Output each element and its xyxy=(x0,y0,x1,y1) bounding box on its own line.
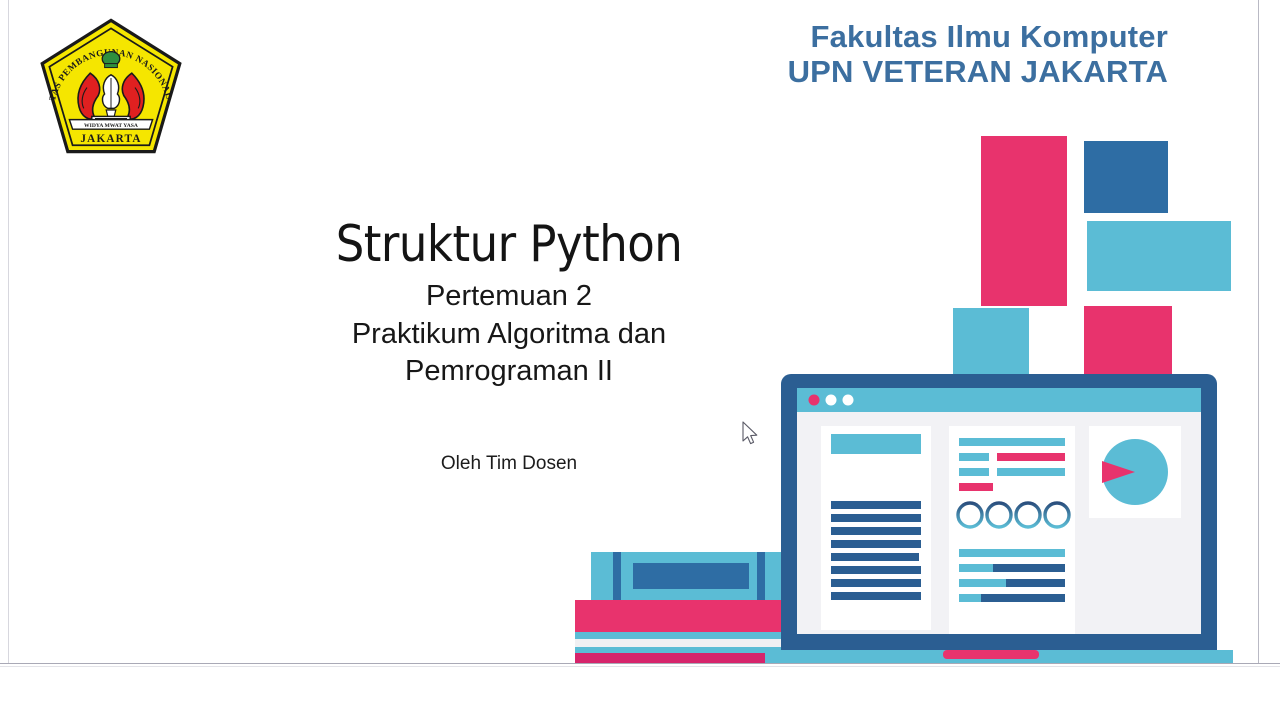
university-name-line2: UPN VETERAN JAKARTA xyxy=(788,55,1168,90)
logo-svg: UNIVERSITAS PEMBANGUNAN NASIONAL VETERAN xyxy=(31,14,191,174)
laptop-bottom-bezel xyxy=(781,634,1217,650)
block-darkblue xyxy=(1084,141,1168,213)
subtitle-line-1: Pertemuan 2 xyxy=(189,278,829,316)
doc-line xyxy=(831,527,921,535)
block-pink-square xyxy=(1084,306,1172,384)
faculty-name-line1: Fakultas Ilmu Komputer xyxy=(788,20,1168,55)
author-credit: Oleh Tim Dosen xyxy=(189,453,829,475)
logo-crest-base xyxy=(105,64,118,68)
book-divider-top xyxy=(575,632,803,639)
doc-line xyxy=(831,540,921,548)
card-document-header xyxy=(831,434,921,454)
upn-veteran-jakarta-logo: UNIVERSITAS PEMBANGUNAN NASIONAL VETERAN xyxy=(31,14,191,174)
stats-bar xyxy=(997,468,1065,476)
logo-bottom-text: JAKARTA xyxy=(80,133,141,145)
stats-bar xyxy=(959,453,989,461)
book-pink xyxy=(575,600,803,632)
book-spine-left xyxy=(613,552,621,600)
stats-bar-accent xyxy=(997,453,1065,461)
logo-ribbon-text: WIDYA MWAT YASA xyxy=(84,123,138,129)
slide-frame-bottom-edge xyxy=(0,663,1280,664)
slide-frame-right-edge xyxy=(1258,0,1259,664)
doc-line xyxy=(831,514,921,522)
block-lightblue-small xyxy=(953,308,1029,380)
stats-bar xyxy=(959,468,989,476)
slide-subtitle: Pertemuan 2 Praktikum Algoritma dan Pemr… xyxy=(189,278,829,391)
laptop-trackpad xyxy=(943,650,1039,659)
stats-bar xyxy=(959,438,1065,446)
block-lightblue-wide xyxy=(1087,221,1231,291)
book-label xyxy=(633,563,749,589)
faculty-header: Fakultas Ilmu Komputer UPN VETERAN JAKAR… xyxy=(788,20,1168,89)
subtitle-line-3: Pemrograman II xyxy=(189,353,829,391)
doc-line xyxy=(831,566,921,574)
block-pink-tall xyxy=(981,136,1067,306)
doc-line xyxy=(831,553,919,561)
progress-track xyxy=(959,549,1065,557)
doc-line xyxy=(831,501,921,509)
slide-frame-bottom-shadow xyxy=(0,666,1280,667)
page-title: Struktur Python xyxy=(189,216,829,272)
browser-titlebar xyxy=(797,388,1201,412)
book-spine-right xyxy=(757,552,765,600)
doc-line xyxy=(831,592,921,600)
logo-lotus-base xyxy=(106,110,116,116)
presentation-slide: UNIVERSITAS PEMBANGUNAN NASIONAL VETERAN xyxy=(9,0,1258,663)
progress-fill xyxy=(1006,579,1065,587)
subtitle-line-2: Praktikum Algoritma dan xyxy=(189,316,829,354)
progress-fill xyxy=(993,564,1065,572)
slide-viewport: UNIVERSITAS PEMBANGUNAN NASIONAL VETERAN xyxy=(0,0,1280,720)
stats-bar-accent xyxy=(959,483,993,491)
title-block: Struktur Python Pertemuan 2 Praktikum Al… xyxy=(189,216,829,475)
doc-line xyxy=(831,579,921,587)
progress-fill xyxy=(981,594,1065,602)
browser-dot-maximize-icon[interactable] xyxy=(843,395,854,406)
